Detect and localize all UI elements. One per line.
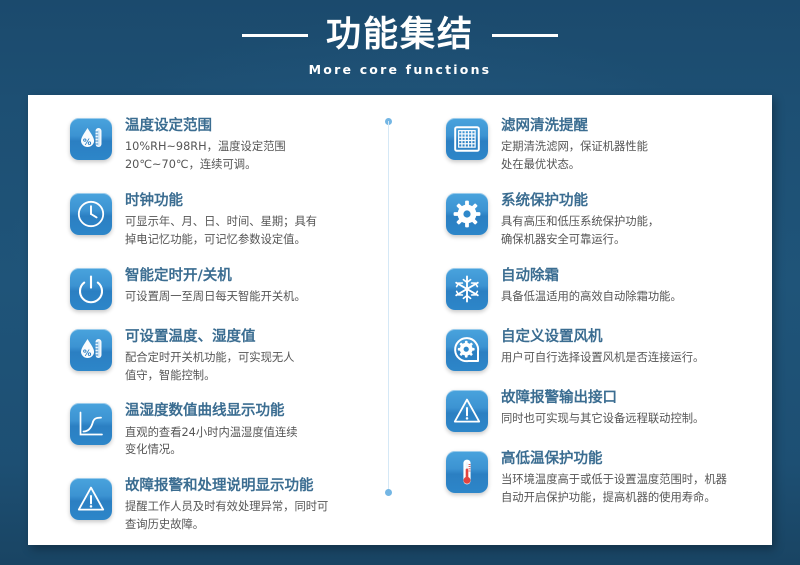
feature-title: 可设置温度、湿度值	[125, 328, 386, 346]
feature-title: 时钟功能	[125, 192, 386, 210]
feature-title: 系统保护功能	[501, 192, 754, 210]
feature-description: 具备低温适用的高效自动除霜功能。	[501, 288, 754, 306]
feature-description: 可显示年、月、日、时间、星期；具有 掉电记忆功能，可记忆参数设定值。	[125, 213, 386, 249]
page-header: 功能集结 More core functions	[0, 0, 800, 95]
feature-title: 高低温保护功能	[501, 450, 754, 468]
feature-item[interactable]: 系统保护功能具有高压和低压系统保护功能， 确保机器安全可靠运行。	[446, 191, 754, 249]
feature-title: 智能定时开/关机	[125, 267, 386, 285]
feature-text: 故障报警和处理说明显示功能提醒工作人员及时有效处理异常，同时可 查询历史故障。	[125, 476, 386, 534]
features-columns: % 温度设定范围10%RH~98RH，温度设定范围 20℃~70℃，连续可调。 …	[28, 95, 772, 545]
feature-description: 可设置周一至周日每天智能开关机。	[125, 288, 386, 306]
feature-title: 温度设定范围	[125, 117, 386, 135]
title-rule-right	[492, 34, 558, 37]
clock-icon	[70, 193, 112, 235]
feature-item[interactable]: 故障报警和处理说明显示功能提醒工作人员及时有效处理异常，同时可 查询历史故障。	[70, 476, 386, 534]
svg-text:%: %	[83, 138, 92, 148]
feature-description: 提醒工作人员及时有效处理异常，同时可 查询历史故障。	[125, 498, 386, 534]
feature-text: 高低温保护功能当环境温度高于或低于设置温度范围时，机器 自动开启保护功能，提高机…	[501, 449, 754, 507]
feature-text: 时钟功能可显示年、月、日、时间、星期；具有 掉电记忆功能，可记忆参数设定值。	[125, 191, 386, 249]
feature-item[interactable]: 高低温保护功能当环境温度高于或低于设置温度范围时，机器 自动开启保护功能，提高机…	[446, 449, 754, 507]
page-subtitle: More core functions	[309, 62, 492, 77]
feature-text: 系统保护功能具有高压和低压系统保护功能， 确保机器安全可靠运行。	[501, 191, 754, 249]
feature-description: 配合定时开关机功能，可实现无人 值守，智能控制。	[125, 349, 386, 385]
thermometer-icon	[446, 451, 488, 493]
feature-description: 直观的查看24小时内温湿度值连续 变化情况。	[125, 424, 386, 460]
humidity-temperature-icon: %	[70, 118, 112, 160]
feature-title: 故障报警输出接口	[501, 389, 754, 407]
power-icon	[70, 268, 112, 310]
feature-item[interactable]: 智能定时开/关机可设置周一至周日每天智能开关机。	[70, 266, 386, 310]
feature-description: 同时也可实现与其它设备远程联动控制。	[501, 410, 754, 428]
feature-item[interactable]: 自动除霜具备低温适用的高效自动除霜功能。	[446, 266, 754, 310]
feature-title: 故障报警和处理说明显示功能	[125, 477, 386, 495]
curve-chart-icon	[70, 403, 112, 445]
features-panel: % 温度设定范围10%RH~98RH，温度设定范围 20℃~70℃，连续可调。 …	[28, 95, 772, 545]
feature-item[interactable]: 滤网清洗提醒定期清洗滤网，保证机器性能 处在最优状态。	[446, 116, 754, 174]
feature-item[interactable]: 故障报警输出接口同时也可实现与其它设备远程联动控制。	[446, 388, 754, 432]
features-column-right: 滤网清洗提醒定期清洗滤网，保证机器性能 处在最优状态。 系统保护功能具有高压和低…	[400, 95, 772, 545]
feature-item[interactable]: 时钟功能可显示年、月、日、时间、星期；具有 掉电记忆功能，可记忆参数设定值。	[70, 191, 386, 249]
gear-icon	[446, 193, 488, 235]
feature-title: 滤网清洗提醒	[501, 117, 754, 135]
feature-title: 温湿度数值曲线显示功能	[125, 402, 386, 420]
blower-fan-icon	[446, 329, 488, 371]
humidity-temperature-icon: %	[70, 329, 112, 371]
title-row: 功能集结	[242, 18, 558, 53]
feature-description: 具有高压和低压系统保护功能， 确保机器安全可靠运行。	[501, 213, 754, 249]
feature-item[interactable]: % 可设置温度、湿度值配合定时开关机功能，可实现无人 值守，智能控制。	[70, 327, 386, 385]
feature-text: 智能定时开/关机可设置周一至周日每天智能开关机。	[125, 266, 386, 306]
title-rule-left	[242, 34, 308, 37]
warning-triangle-icon	[70, 478, 112, 520]
feature-item[interactable]: 自定义设置风机用户可自行选择设置风机是否连接运行。	[446, 327, 754, 371]
feature-text: 可设置温度、湿度值配合定时开关机功能，可实现无人 值守，智能控制。	[125, 327, 386, 385]
warning-triangle-icon	[446, 390, 488, 432]
snowflake-icon	[446, 268, 488, 310]
page-title: 功能集结	[326, 18, 474, 53]
feature-title: 自动除霜	[501, 267, 754, 285]
feature-text: 自动除霜具备低温适用的高效自动除霜功能。	[501, 266, 754, 306]
feature-description: 定期清洗滤网，保证机器性能 处在最优状态。	[501, 138, 754, 174]
feature-text: 自定义设置风机用户可自行选择设置风机是否连接运行。	[501, 327, 754, 367]
filter-mesh-icon	[446, 118, 488, 160]
feature-text: 故障报警输出接口同时也可实现与其它设备远程联动控制。	[501, 388, 754, 428]
feature-text: 滤网清洗提醒定期清洗滤网，保证机器性能 处在最优状态。	[501, 116, 754, 174]
features-column-left: % 温度设定范围10%RH~98RH，温度设定范围 20℃~70℃，连续可调。 …	[28, 95, 400, 545]
feature-title: 自定义设置风机	[501, 328, 754, 346]
svg-text:%: %	[83, 349, 92, 359]
feature-item[interactable]: 温湿度数值曲线显示功能直观的查看24小时内温湿度值连续 变化情况。	[70, 401, 386, 459]
feature-description: 10%RH~98RH，温度设定范围 20℃~70℃，连续可调。	[125, 138, 386, 174]
feature-text: 温度设定范围10%RH~98RH，温度设定范围 20℃~70℃，连续可调。	[125, 116, 386, 174]
feature-text: 温湿度数值曲线显示功能直观的查看24小时内温湿度值连续 变化情况。	[125, 401, 386, 459]
feature-description: 用户可自行选择设置风机是否连接运行。	[501, 349, 754, 367]
feature-item[interactable]: % 温度设定范围10%RH~98RH，温度设定范围 20℃~70℃，连续可调。	[70, 116, 386, 174]
feature-description: 当环境温度高于或低于设置温度范围时，机器 自动开启保护功能，提高机器的使用寿命。	[501, 471, 754, 507]
